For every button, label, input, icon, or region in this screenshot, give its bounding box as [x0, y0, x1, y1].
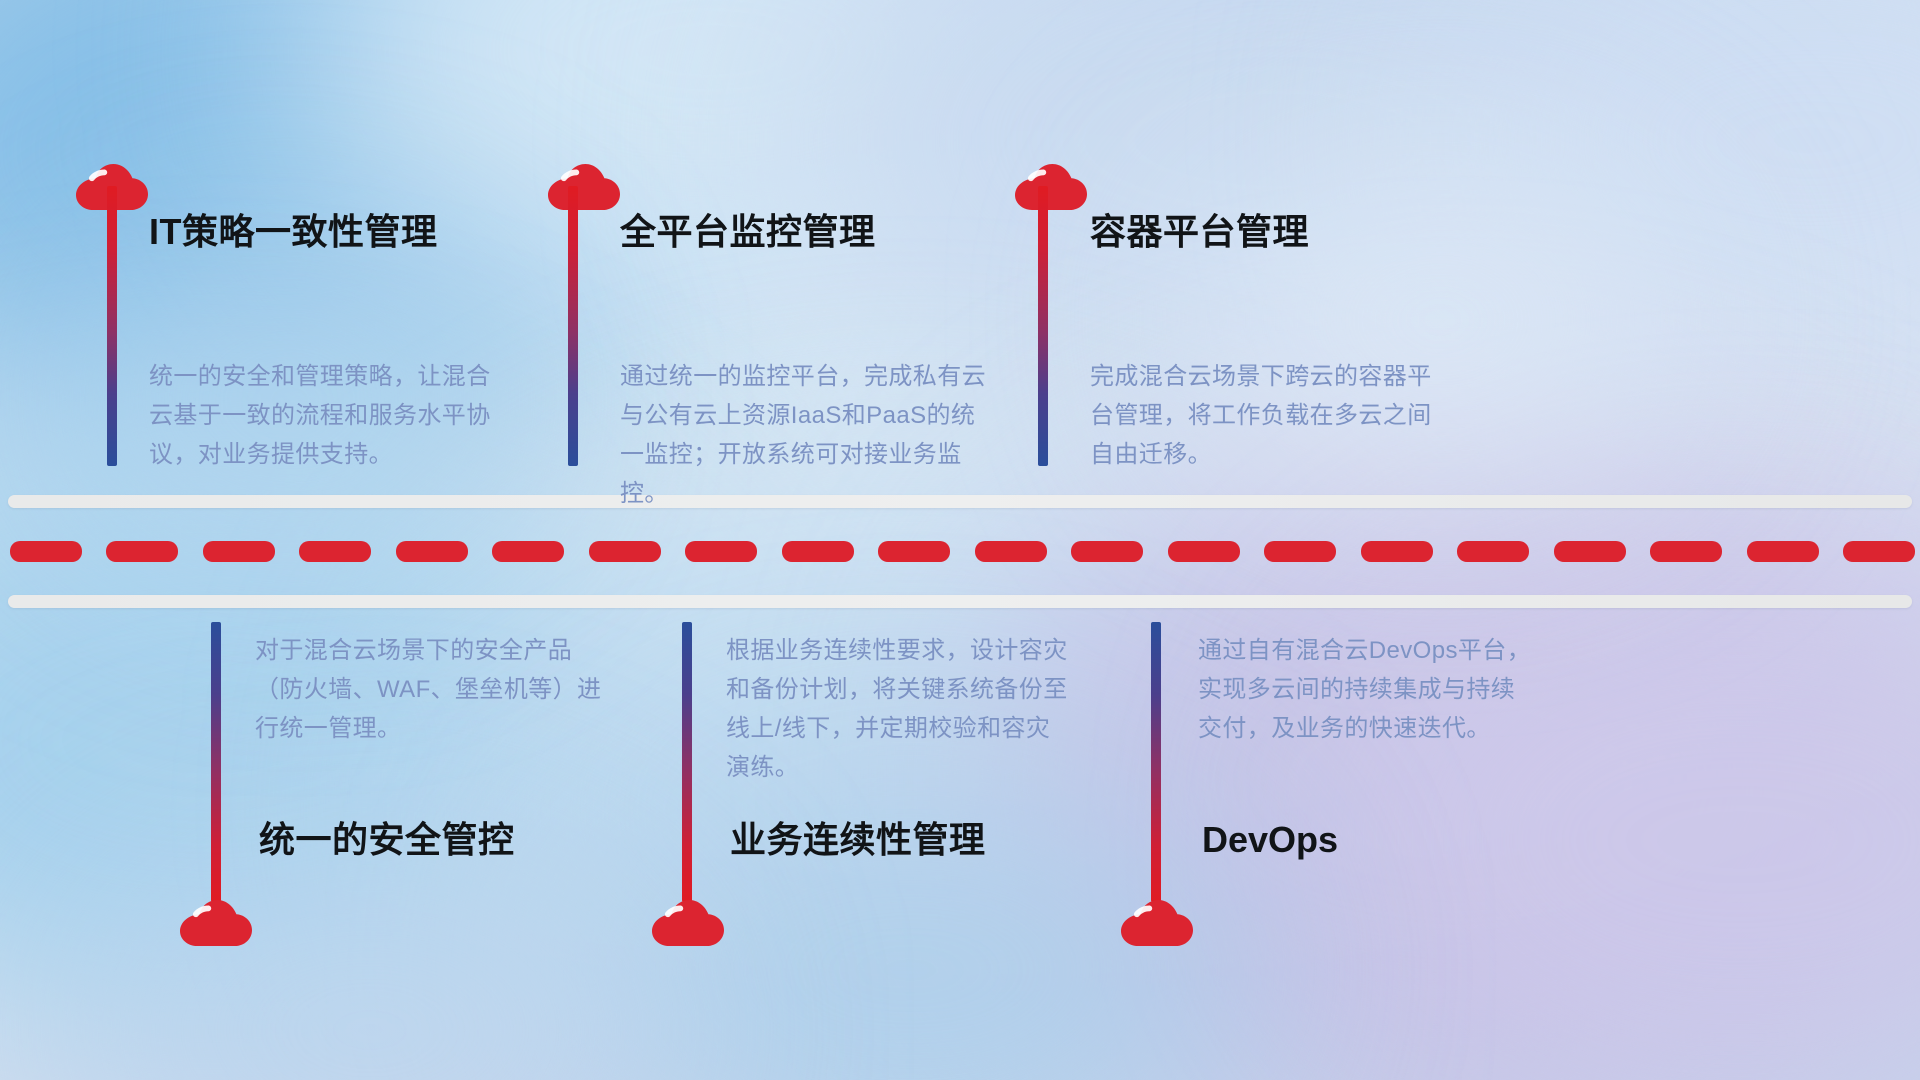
road-dash	[396, 541, 468, 562]
road-rail-bottom	[8, 595, 1912, 608]
feature-description: 通过统一的监控平台，完成私有云 与公有云上资源IaaS和PaaS的统 一监控；开…	[620, 358, 1010, 514]
feature-stem	[211, 622, 221, 902]
feature-title: IT策略一致性管理	[149, 212, 438, 252]
road-dash	[1747, 541, 1819, 562]
road-dash	[1554, 541, 1626, 562]
feature-stem	[1151, 622, 1161, 902]
feature-description: 对于混合云场景下的安全产品 （防火墙、WAF、堡垒机等）进 行统一管理。	[255, 632, 615, 749]
feature-title: 容器平台管理	[1090, 212, 1309, 252]
cloud-icon	[180, 896, 252, 948]
road-dash	[1843, 541, 1915, 562]
feature-stem	[1038, 186, 1048, 466]
road-dash	[1264, 541, 1336, 562]
road-dash	[10, 541, 82, 562]
road-dash	[1457, 541, 1529, 562]
background-vignette	[0, 0, 1920, 1080]
road-dash	[782, 541, 854, 562]
road-dash	[1168, 541, 1240, 562]
road-dash	[1650, 541, 1722, 562]
feature-description: 统一的安全和管理策略，让混合 云基于一致的流程和服务水平协 议，对业务提供支持。	[149, 358, 509, 475]
road-dash	[1361, 541, 1433, 562]
feature-title: 统一的安全管控	[259, 820, 515, 860]
feature-stem	[682, 622, 692, 902]
road-dash	[203, 541, 275, 562]
road-dash	[975, 541, 1047, 562]
cloud-icon	[1121, 896, 1193, 948]
cloud-icon	[548, 160, 620, 212]
feature-description: 完成混合云场景下跨云的容器平 台管理，将工作负载在多云之间 自由迁移。	[1090, 358, 1470, 475]
road-dash	[492, 541, 564, 562]
infographic-canvas: IT策略一致性管理 统一的安全和管理策略，让混合 云基于一致的流程和服务水平协 …	[0, 0, 1920, 1080]
feature-title: 全平台监控管理	[620, 212, 876, 252]
cloud-icon	[1015, 160, 1087, 212]
feature-title: 业务连续性管理	[730, 820, 986, 860]
feature-description: 通过自有混合云DevOps平台， 实现多云间的持续集成与持续 交付，及业务的快速…	[1198, 632, 1578, 749]
road-dash	[685, 541, 757, 562]
feature-description: 根据业务连续性要求，设计容灾 和备份计划，将关键系统备份至 线上/线下，并定期校…	[726, 632, 1086, 788]
road-dash	[589, 541, 661, 562]
road-dash	[878, 541, 950, 562]
cloud-icon	[652, 896, 724, 948]
road-dashed-centerline	[0, 541, 1920, 562]
road-dash	[106, 541, 178, 562]
road-dash	[299, 541, 371, 562]
feature-stem	[107, 186, 117, 466]
feature-stem	[568, 186, 578, 466]
feature-title: DevOps	[1202, 820, 1338, 860]
road-dash	[1071, 541, 1143, 562]
